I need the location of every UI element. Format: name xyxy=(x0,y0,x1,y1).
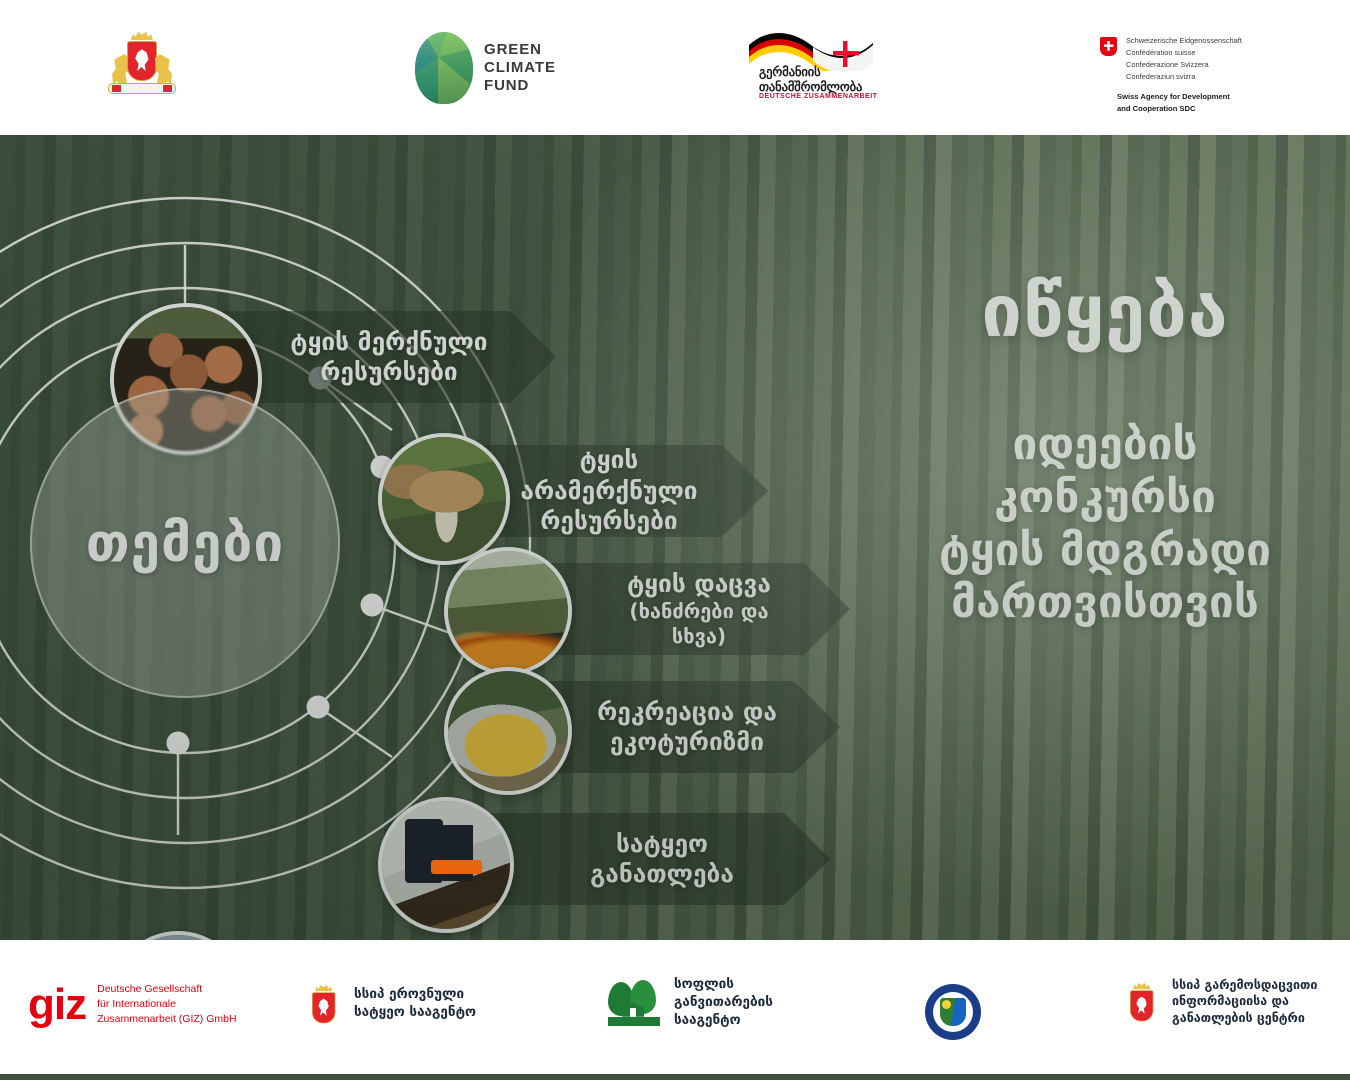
gcf-line-1: GREEN xyxy=(484,41,556,59)
crown-icon xyxy=(131,30,153,40)
logo-national-forestry-agency: სსიპ ეროვნული სატყეო სააგენტო xyxy=(312,978,476,1029)
german-cooperation-georgian-text: გერმანიის თანამშრომლობა xyxy=(759,65,862,95)
footer-logo-bar: giz Deutsche Gesellschaft für Internatio… xyxy=(0,940,1350,1075)
swiss-flag-icon xyxy=(1100,37,1117,56)
environment-seal-icon xyxy=(925,984,981,1040)
logo-green-climate-fund: GREEN CLIMATE FUND xyxy=(415,32,556,104)
seal-shield-icon xyxy=(940,998,966,1026)
topic-label-3-sub: (ხანძრები და სხვა) xyxy=(602,599,796,649)
mushroom-forest-photo xyxy=(382,437,506,561)
swiss-confederation-text: Schweizerische Eidgenossenschaft Confédé… xyxy=(1126,35,1242,83)
hub-label: თემები xyxy=(86,513,285,574)
topic-photo-2[interactable] xyxy=(378,433,510,565)
topic-photo-5[interactable] xyxy=(378,797,514,933)
shield-icon xyxy=(312,992,335,1023)
gcf-wordmark: GREEN CLIMATE FUND xyxy=(484,41,556,96)
logo-swiss-sdc: Schweizerische Eidgenossenschaft Confédé… xyxy=(1100,35,1242,114)
rural-development-agency-text: სოფლის განვითარების სააგენტო xyxy=(674,976,773,1029)
environmental-info-center-text: სსიპ გარემოსდაცვითი ინფორმაციისა და განა… xyxy=(1172,977,1317,1027)
georgia-coat-of-arms-icon xyxy=(312,984,335,1024)
topic-photo-3[interactable] xyxy=(444,547,572,675)
page-title: იწყება xyxy=(880,275,1330,347)
logo-giz: giz Deutsche Gesellschaft für Internatio… xyxy=(28,982,237,1027)
shield-icon xyxy=(127,41,157,81)
ground-bar xyxy=(608,1017,660,1026)
giz-description: Deutsche Gesellschaft für Internationale… xyxy=(97,982,236,1027)
gcf-line-2: CLIMATE xyxy=(484,59,556,77)
page-subtitle: იდეების კონკურსი ტყის მდგრადი მართვისთვი… xyxy=(880,419,1330,630)
national-forestry-agency-text: სსიპ ეროვნული სატყეო სააგენტო xyxy=(354,986,476,1022)
headline-block: იწყება იდეების კონკურსი ტყის მდგრადი მარ… xyxy=(880,275,1330,630)
georgia-coat-of-arms-icon xyxy=(108,30,176,94)
chainsaw-logging-photo xyxy=(382,801,510,929)
crown-icon xyxy=(315,984,332,992)
top-logo-bar: GREEN CLIMATE FUND გერმანიის თანამშრომლო… xyxy=(0,0,1350,135)
logo-environmental-info-center: სსიპ გარემოსდაცვითი ინფორმაციისა და განა… xyxy=(1130,976,1317,1027)
crown-icon xyxy=(1133,982,1150,990)
camping-tent-photo xyxy=(448,671,568,791)
shield-icon xyxy=(1130,990,1153,1021)
logo-rural-development-agency: სოფლის განვითარების სააგენტო xyxy=(608,976,773,1029)
logo-german-cooperation: გერმანიის თანამშრომლობა DEUTSCHE ZUSAMME… xyxy=(745,25,880,105)
gz-line-1: გერმანიის xyxy=(759,65,862,80)
poster-artboard: ტყის მერქნული რესურსები ტყის არამერქნული… xyxy=(0,135,1350,940)
topic-photo-4[interactable] xyxy=(444,667,572,795)
logo-environmental-agency xyxy=(925,984,981,1040)
forest-fire-photo xyxy=(448,551,568,671)
motto-ribbon xyxy=(108,83,176,94)
swiss-agency-text: Swiss Agency for Development and Coopera… xyxy=(1117,91,1242,115)
globe-polygon-icon xyxy=(415,32,473,104)
seal-inner xyxy=(933,992,973,1032)
logo-georgia-coat-of-arms xyxy=(108,30,176,94)
central-hub: თემები xyxy=(30,388,340,698)
bottom-strip xyxy=(0,1074,1350,1080)
gcf-line-3: FUND xyxy=(484,77,556,95)
georgia-coat-of-arms-icon xyxy=(1130,982,1153,1022)
trees-house-icon xyxy=(608,980,660,1026)
topic-label-3-main: ტყის დაცვა xyxy=(627,569,771,598)
giz-wordmark: giz xyxy=(28,985,86,1025)
german-cooperation-latin-text: DEUTSCHE ZUSAMMENARBEIT xyxy=(759,93,877,100)
